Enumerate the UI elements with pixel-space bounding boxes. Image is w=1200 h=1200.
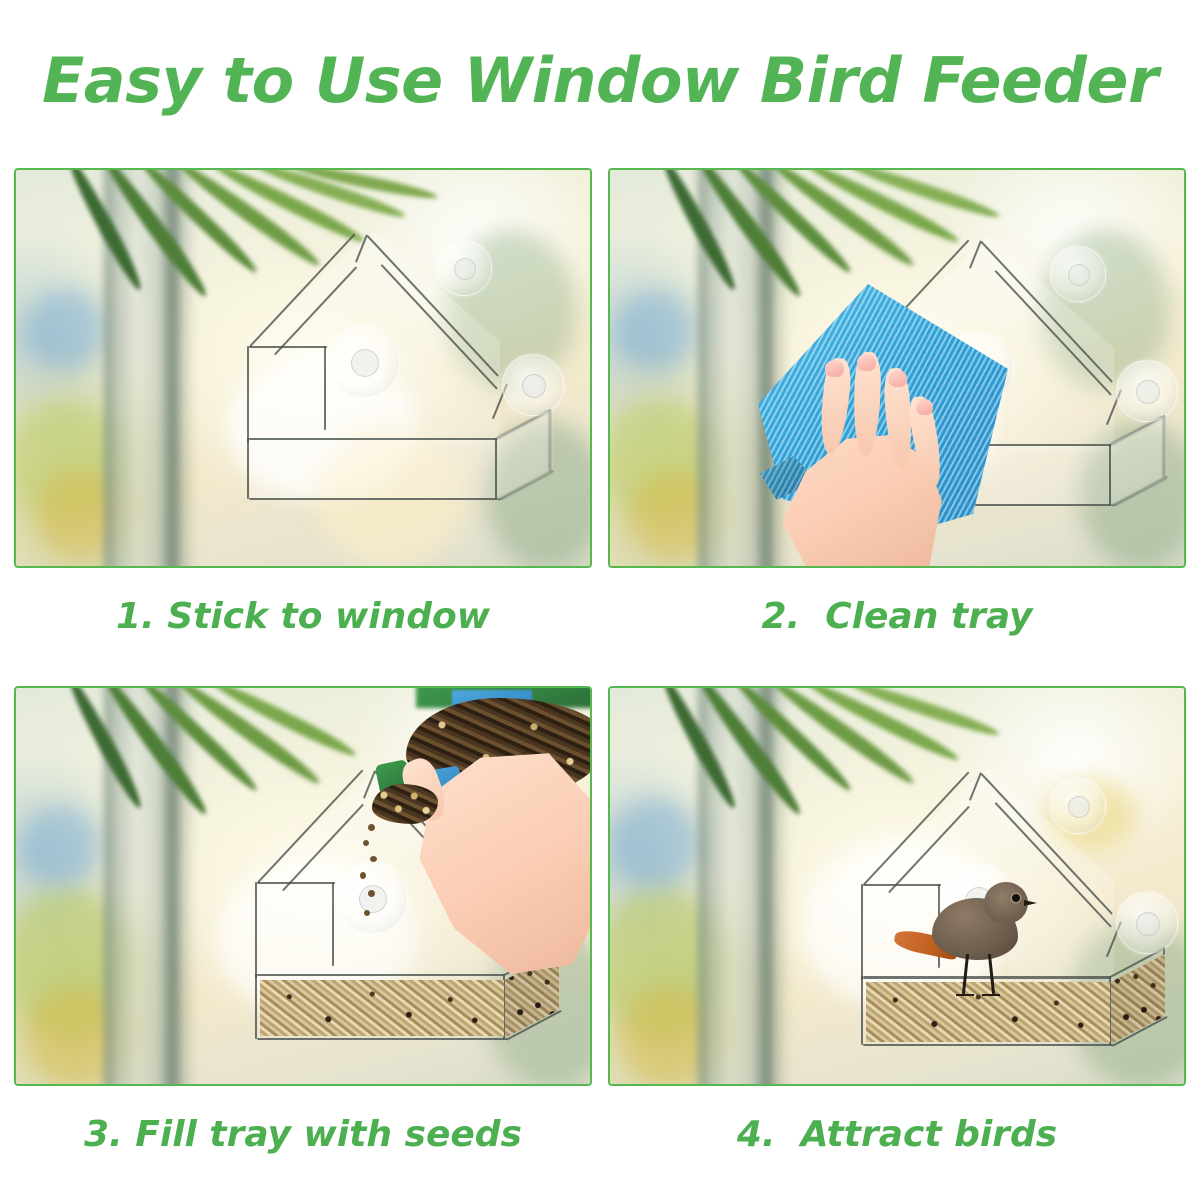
tray-bottom-front (249, 498, 499, 500)
falling-seed (368, 890, 375, 897)
bird-leg (988, 954, 995, 994)
wall-notch-top (257, 882, 335, 884)
suction-cup (436, 240, 492, 296)
step-4-caption: 4. Attract birds (608, 1114, 1186, 1155)
tray-bottom-front (863, 1044, 1113, 1046)
wall-left-vertical (255, 882, 257, 978)
bird-foot (956, 992, 974, 996)
fingernail (916, 399, 933, 415)
step-3-photo (14, 686, 592, 1086)
step-2-caption: 2. Clean tray (608, 596, 1186, 637)
suction-cup (1116, 360, 1178, 422)
page-title: Easy to Use Window Bird Feeder (0, 44, 1200, 117)
step-card-1: 1. Stick to window (14, 168, 592, 637)
bird-foot (982, 992, 1000, 996)
steps-grid: 1. Stick to window (14, 168, 1186, 1180)
seed-stream (372, 784, 438, 824)
tray-top-front (257, 974, 505, 976)
wall-notch-top (249, 346, 327, 348)
bird-head (984, 882, 1028, 924)
bokeh-blob (20, 806, 100, 886)
suction-cup (502, 354, 564, 416)
suction-cup (328, 326, 400, 398)
fingernail (825, 360, 844, 377)
suction-cup (1050, 778, 1106, 834)
falling-seed (368, 824, 375, 831)
tray-left-edge (861, 976, 863, 1045)
tray-right-edge (1109, 444, 1111, 505)
step-1-photo (14, 168, 592, 568)
seed-fill-front (260, 980, 504, 1036)
window-bird-feeder-infographic: Easy to Use Window Bird Feeder (0, 0, 1200, 1200)
bokeh-blob (610, 798, 700, 888)
perched-bird (902, 878, 1052, 1008)
wall-notch-vertical (324, 346, 326, 430)
step-card-3: 3. Fill tray with seeds (14, 686, 592, 1155)
step-2-photo (608, 168, 1186, 568)
scene-fill-tray-with-seeds (16, 688, 590, 1084)
fingernail (857, 354, 876, 371)
scene-stick-to-window (16, 170, 590, 566)
step-1-caption: 1. Stick to window (14, 596, 592, 637)
tray-top-front (249, 438, 497, 440)
acrylic-bird-feeder (240, 230, 570, 520)
scene-clean-tray (610, 170, 1184, 566)
tray-left-edge (255, 974, 257, 1039)
falling-seed (364, 910, 370, 916)
wall-left-vertical (247, 346, 249, 442)
wall-left-vertical (861, 884, 863, 980)
bird-leg (962, 954, 969, 994)
tray-right-edge (495, 438, 497, 499)
falling-seed (363, 840, 369, 846)
falling-seed (360, 872, 366, 879)
bokeh-blob (616, 290, 696, 370)
window-frame-bar-secondary (760, 168, 786, 568)
step-card-4: 4. Attract birds (608, 686, 1186, 1155)
step-3-caption: 3. Fill tray with seeds (14, 1114, 592, 1155)
window-frame-bar-secondary (166, 168, 192, 568)
suction-cup (1116, 892, 1178, 954)
step-4-photo (608, 686, 1186, 1086)
tray-bottom-front (257, 1038, 507, 1040)
window-frame-bar-secondary (760, 686, 786, 1086)
step-card-2: 2. Clean tray (608, 168, 1186, 637)
falling-seed (370, 856, 377, 862)
suction-cup (336, 862, 408, 934)
tray-left-edge (247, 438, 249, 499)
wall-notch-vertical (332, 882, 334, 966)
fingernail (889, 370, 907, 387)
bird-eye (1012, 894, 1020, 902)
window-frame-bar-secondary (166, 686, 192, 1086)
tray-front-face (250, 438, 496, 500)
bird-beak (1024, 900, 1037, 906)
bokeh-blob (26, 290, 106, 370)
suction-cup (1050, 246, 1106, 302)
scene-attract-birds (610, 688, 1184, 1084)
